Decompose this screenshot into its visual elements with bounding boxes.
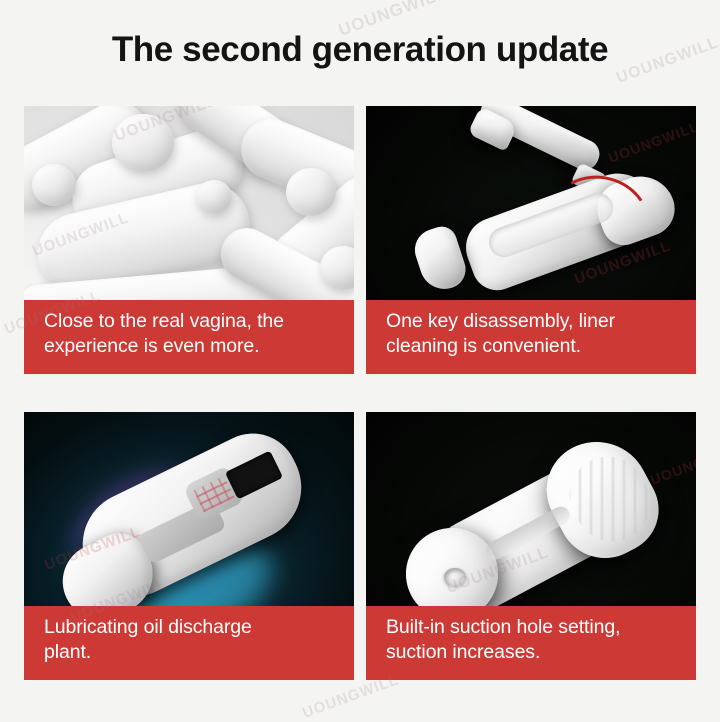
caption-line-2: cleaning is convenient.	[386, 334, 682, 359]
shape-blob-2	[286, 168, 336, 216]
caption-line-2: suction increases.	[386, 640, 682, 665]
feature-card-one-key-disassembly[interactable]: UOUNGWILL UOUNGWILL One key disassembly,…	[366, 106, 696, 374]
feature-card-suction-hole[interactable]: UOUNGWILL UOUNGWILL Built-in suction hol…	[366, 412, 696, 680]
feature-caption-real-feel: Close to the real vagina, the experience…	[24, 300, 354, 374]
suction-hole	[444, 568, 466, 586]
shape-blob-1	[112, 114, 174, 172]
feature-caption-suction-hole: Built-in suction hole setting, suction i…	[366, 606, 696, 680]
feature-card-real-feel[interactable]: UOUNGWILL UOUNGWILL Close to the real va…	[24, 106, 354, 374]
feature-card-lubricating-oil[interactable]: UOUNGWILL UOUNGWILL Lubricating oil disc…	[24, 412, 354, 680]
caption-line-2: plant.	[44, 640, 340, 665]
caption-line-2: experience is even more.	[44, 334, 340, 359]
shape-blob-3	[32, 164, 76, 206]
caption-line-1: Built-in suction hole setting,	[386, 615, 682, 640]
shape-blob-6	[196, 180, 232, 214]
feature-grid: UOUNGWILL UOUNGWILL Close to the real va…	[24, 106, 696, 690]
feature-caption-lubricating-oil: Lubricating oil discharge plant.	[24, 606, 354, 680]
feature-caption-disassembly: One key disassembly, liner cleaning is c…	[366, 300, 696, 374]
product-feature-poster: The second generation update UOUNGWILL U…	[0, 0, 720, 720]
caption-line-1: Lubricating oil discharge	[44, 615, 340, 640]
page-title: The second generation update	[0, 28, 720, 72]
caption-line-1: One key disassembly, liner	[386, 309, 682, 334]
caption-line-1: Close to the real vagina, the	[44, 309, 340, 334]
